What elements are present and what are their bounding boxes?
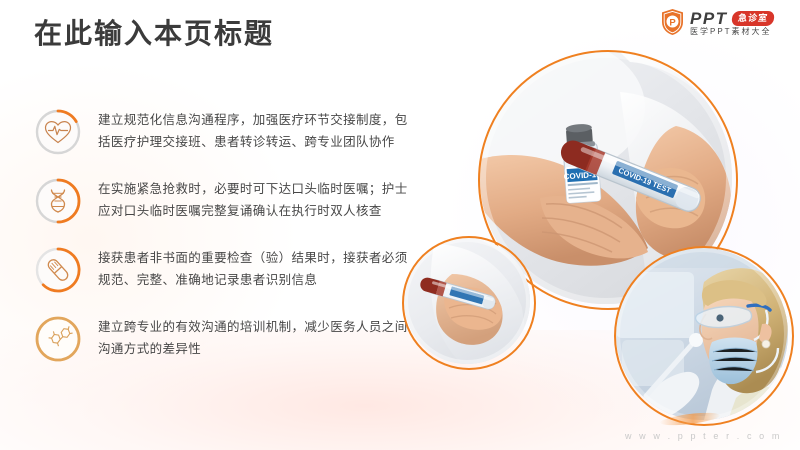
list-item-text: 接获患者非书面的重要检查（验）结果时，接获者必须规范、完整、准确地记录患者识别信… <box>98 244 414 292</box>
list-item[interactable]: 建立跨专业的有效沟通的培训机制，减少医务人员之间沟通方式的差异性 <box>34 313 414 382</box>
heart-pulse-icon <box>34 108 82 156</box>
capsule-pill-icon <box>34 246 82 294</box>
page-title: 在此输入本页标题 <box>34 17 274 51</box>
brand-logo[interactable]: P PPT 急诊室 医学PPT素材大全 <box>660 5 792 39</box>
list-item[interactable]: 接获患者非书面的重要检查（验）结果时，接获者必须规范、完整、准确地记录患者识别信… <box>34 244 414 313</box>
shield-p-icon: P <box>660 8 685 36</box>
photo-lab-technician <box>616 248 788 420</box>
slide-canvas: 在此输入本页标题 P PPT 急诊室 医学PPT素材大全 <box>0 0 800 450</box>
brand-text-block: PPT 急诊室 医学PPT素材大全 <box>690 9 774 36</box>
molecule-icon <box>34 315 82 363</box>
photo-hand-test-tube <box>404 238 530 364</box>
list-item-text: 建立规范化信息沟通程序，加强医疗环节交接制度，包括医疗护理交接班、患者转诊转运、… <box>98 106 414 154</box>
dna-helix-icon <box>34 177 82 225</box>
list-item-text: 建立跨专业的有效沟通的培训机制，减少医务人员之间沟通方式的差异性 <box>98 313 414 361</box>
brand-name-row: PPT 急诊室 <box>690 10 774 27</box>
list-item[interactable]: 在实施紧急抢救时，必要时可下达口头临时医嘱；护士应对口头临时医嘱完整复诵确认在执… <box>34 175 414 244</box>
brand-badge: 急诊室 <box>731 11 775 26</box>
brand-subtitle: 医学PPT素材大全 <box>690 28 774 36</box>
list-item[interactable]: 建立规范化信息沟通程序，加强医疗环节交接制度，包括医疗护理交接班、患者转诊转运、… <box>34 106 414 175</box>
watermark-text: w w w . p p t e r . c o m <box>625 431 782 441</box>
list-item-text: 在实施紧急抢救时，必要时可下达口头临时医嘱；护士应对口头临时医嘱完整复诵确认在执… <box>98 175 414 223</box>
brand-name: PPT <box>690 10 728 27</box>
bullet-list: 建立规范化信息沟通程序，加强医疗环节交接制度，包括医疗护理交接班、患者转诊转运、… <box>34 106 414 382</box>
svg-text:P: P <box>669 18 676 29</box>
